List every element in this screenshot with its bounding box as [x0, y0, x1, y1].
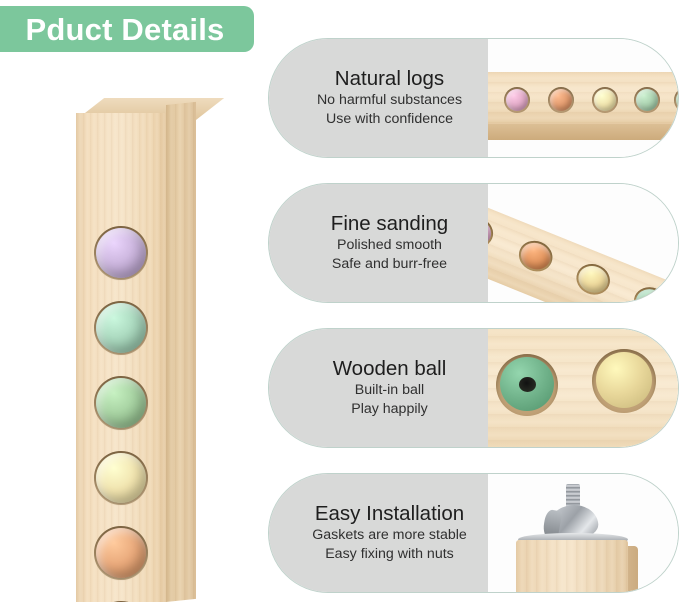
photo3-ball-2	[596, 352, 652, 408]
wooden-block	[516, 540, 628, 592]
feature-subtitle-line-2: Use with confidence	[326, 110, 453, 129]
wooden-post	[76, 113, 196, 602]
feature-text-panel: Natural logs No harmful substances Use w…	[269, 39, 488, 157]
feature-title: Fine sanding	[331, 212, 448, 236]
hero-ball-3	[96, 378, 146, 428]
photo2-ball-4	[632, 285, 670, 302]
feature-row-wooden-ball: Wooden ball Built-in ball Play happily	[268, 328, 679, 448]
bar-hole	[514, 236, 557, 277]
bar-hole	[572, 259, 615, 300]
post-side-face	[166, 102, 196, 602]
photo2-ball-2	[517, 238, 555, 273]
feature-text-panel: Fine sanding Polished smooth Safe and bu…	[269, 184, 488, 302]
bar-hole	[629, 282, 672, 302]
feature-title: Wooden ball	[333, 357, 447, 381]
hero-ball-5	[96, 528, 146, 578]
bar-hole	[548, 87, 574, 113]
bar-hole	[488, 212, 498, 253]
header-banner: Pduct Details	[0, 6, 254, 52]
ball-hole	[94, 526, 148, 580]
hero-ball-4	[96, 453, 146, 503]
ball-center-hole	[519, 377, 536, 392]
feature-text-panel: Easy Installation Gaskets are more stabl…	[269, 474, 488, 592]
bar-hole	[592, 87, 618, 113]
page-title: Pduct Details	[26, 14, 225, 45]
feature-subtitle-line-1: Built-in ball	[355, 381, 424, 400]
bar-bottom-face	[488, 124, 679, 140]
photo1-ball-4	[636, 89, 658, 111]
photo1-ball-2	[550, 89, 572, 111]
bar-hole	[634, 87, 660, 113]
feature-row-fine-sanding: Fine sanding Polished smooth Safe and bu…	[268, 183, 679, 303]
feature-subtitle-line-2: Safe and burr-free	[332, 255, 447, 274]
feature-subtitle-line-2: Easy fixing with nuts	[325, 545, 454, 564]
bar-hole	[674, 87, 679, 113]
ball-hole	[94, 451, 148, 505]
photo2-ball-3	[574, 262, 612, 297]
ball-hole	[94, 301, 148, 355]
ball-hole	[94, 376, 148, 430]
feature-text-panel: Wooden ball Built-in ball Play happily	[269, 329, 488, 447]
hero-ball-1	[96, 228, 146, 278]
feature-clip: Wooden ball Built-in ball Play happily	[268, 328, 679, 448]
feature-photo-natural-logs	[488, 39, 679, 157]
feature-clip: Easy Installation Gaskets are more stabl…	[268, 473, 679, 593]
photo1-ball-1	[506, 89, 528, 111]
feature-title: Natural logs	[335, 67, 444, 91]
horizontal-wooden-bar	[488, 72, 679, 124]
feature-photo-fine-sanding	[488, 184, 679, 302]
feature-row-natural-logs: Natural logs No harmful substances Use w…	[268, 38, 679, 158]
feature-row-easy-installation: Easy Installation Gaskets are more stabl…	[268, 473, 679, 593]
feature-title: Easy Installation	[315, 502, 464, 526]
feature-photo-wooden-ball	[488, 329, 679, 447]
feature-subtitle-line-1: No harmful substances	[317, 91, 462, 110]
bar-hole	[504, 87, 530, 113]
feature-clip: Fine sanding Polished smooth Safe and bu…	[268, 183, 679, 303]
feature-subtitle-line-1: Gaskets are more stable	[312, 526, 467, 545]
feature-clip: Natural logs No harmful substances Use w…	[268, 38, 679, 158]
photo1-ball-3	[594, 89, 616, 111]
feature-subtitle-line-2: Play happily	[351, 400, 428, 419]
diagonal-wooden-bar	[488, 194, 679, 302]
feature-photo-easy-installation	[488, 474, 679, 592]
ball-hole	[94, 226, 148, 280]
hero-product-photo	[0, 52, 262, 602]
hero-ball-2	[96, 303, 146, 353]
photo2-ball-1	[488, 214, 495, 249]
feature-subtitle-line-1: Polished smooth	[337, 236, 442, 255]
product-details-infographic: Pduct Details	[0, 0, 679, 602]
